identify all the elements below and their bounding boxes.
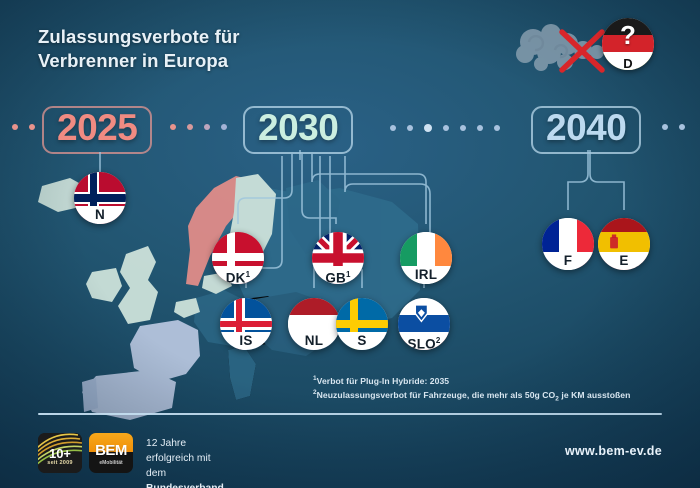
country-code-france: F bbox=[542, 252, 594, 270]
flag-badge-netherlands[interactable]: NL bbox=[288, 298, 340, 350]
footer-tagline-line-2: Bundesverband eMobilität bbox=[146, 482, 224, 488]
flag-badge-spain[interactable]: E bbox=[598, 218, 650, 270]
country-code-ireland: IRL bbox=[400, 266, 452, 284]
footer-tagline-line-1: 12 Jahre erfolgreich mit dem bbox=[146, 437, 224, 482]
country-code-iceland: IS bbox=[220, 332, 272, 350]
flag-badge-denmark[interactable]: DK1 bbox=[212, 232, 264, 284]
anniversary-badge-bottom: seit 2009 bbox=[38, 460, 82, 466]
flag-badge-iceland[interactable]: IS bbox=[220, 298, 272, 350]
germany-flag-badge: ? D bbox=[602, 18, 654, 70]
anniversary-badge-icon: 10+ seit 2009 bbox=[38, 433, 82, 473]
flag-badge-great-britain[interactable]: GB1 bbox=[312, 232, 364, 284]
footnote-1: 1Verbot für Plug-In Hybride: 2035 bbox=[313, 374, 630, 388]
footnote-1-text: Verbot für Plug-In Hybride: 2035 bbox=[317, 376, 449, 386]
country-code-netherlands: NL bbox=[288, 332, 340, 350]
footnote-2-text-b: je KM ausstoßen bbox=[559, 390, 630, 400]
flag-badge-slovenia[interactable]: SLO2 bbox=[398, 298, 450, 350]
flag-badge-sweden[interactable]: S bbox=[336, 298, 388, 350]
footer-divider bbox=[38, 413, 662, 415]
flag-badge-france[interactable]: F bbox=[542, 218, 594, 270]
timeline-dots-right bbox=[390, 124, 500, 132]
country-code-sweden: S bbox=[336, 332, 388, 350]
timeline-dots-left bbox=[12, 124, 35, 130]
page-title: Zulassungsverbote für Verbrenner in Euro… bbox=[38, 25, 240, 72]
timeline-dots-far-right bbox=[662, 124, 685, 130]
country-code-denmark: DK1 bbox=[212, 266, 264, 284]
question-mark-icon: ? bbox=[602, 20, 654, 51]
footer-tagline: 12 Jahre erfolgreich mit dem Bundesverba… bbox=[146, 437, 224, 488]
country-code-spain: E bbox=[598, 252, 650, 270]
infographic-poster: Zulassungsverbote für Verbrenner in Euro… bbox=[0, 0, 700, 488]
website-url[interactable]: www.bem-ev.de bbox=[565, 444, 662, 458]
country-code-slovenia: SLO2 bbox=[398, 332, 450, 350]
germany-country-code: D bbox=[602, 56, 654, 70]
title-line-1: Zulassungsverbote für bbox=[38, 25, 240, 49]
country-code-norway: N bbox=[74, 206, 126, 224]
flag-badge-ireland[interactable]: IRL bbox=[400, 232, 452, 284]
red-cross-icon bbox=[556, 27, 608, 75]
timeline-dots-mid bbox=[170, 124, 227, 130]
bem-logo-title: BEM bbox=[89, 442, 133, 459]
anniversary-badge-top: 10+ bbox=[38, 446, 82, 461]
country-code-great-britain: GB1 bbox=[312, 266, 364, 284]
title-line-2: Verbrenner in Europa bbox=[38, 49, 240, 73]
footnote-2: 2Neuzulassungsverbot für Fahrzeuge, die … bbox=[313, 388, 630, 404]
bem-logo: BEM eMobilität bbox=[89, 433, 133, 473]
bem-logo-subtitle: eMobilität bbox=[89, 460, 133, 466]
footnotes: 1Verbot für Plug-In Hybride: 2035 2Neuzu… bbox=[313, 374, 630, 404]
flag-badge-norway[interactable]: N bbox=[74, 172, 126, 224]
footnote-2-text-a: Neuzulassungsverbot für Fahrzeuge, die m… bbox=[317, 390, 556, 400]
